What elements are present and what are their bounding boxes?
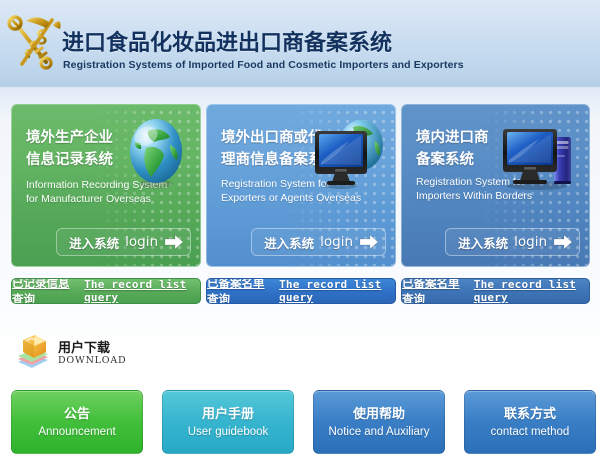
- button-label-cn: 用户手册: [202, 406, 254, 422]
- login-label-en: login: [125, 234, 158, 250]
- query-label-en: The record list query: [474, 278, 589, 304]
- query-label-en: The record list query: [279, 278, 395, 304]
- page-title-cn: 进口食品化妆品进出口商备案系统: [62, 25, 392, 57]
- page-header: 进口食品化妆品进出口商备案系统 Registration Systems of …: [0, 0, 600, 88]
- button-label-en: contact method: [491, 425, 570, 439]
- monitor-globe-icon: [299, 115, 387, 195]
- caduceus-key-emblem-icon: [6, 12, 62, 74]
- login-label-en: login: [514, 234, 547, 250]
- system-cards-row: 境外生产企业 信息记录系统 Information Recording Syst…: [0, 104, 600, 304]
- button-label-cn: 使用帮助: [353, 406, 405, 422]
- card-body: 境外出口商或代 理商信息备案系统 Registration System for…: [206, 104, 396, 267]
- query-label-cn: 已备案名单查询: [207, 278, 272, 304]
- button-label-en: User guidebook: [188, 425, 269, 439]
- query-label-cn: 已记录信息查询: [12, 278, 77, 304]
- record-list-query-button[interactable]: 已备案名单查询 The record list query: [401, 278, 590, 304]
- page-title-en: Registration Systems of Imported Food an…: [63, 59, 464, 71]
- button-label-en: Notice and Auxiliary: [329, 425, 430, 439]
- user-download-section[interactable]: 用户下载 DOWNLOAD: [14, 332, 126, 372]
- download-book-icon: [14, 332, 52, 372]
- contact-method-button[interactable]: 联系方式 contact method: [464, 390, 596, 454]
- login-button[interactable]: 进入系统 login: [251, 228, 386, 256]
- download-label-group: 用户下载 DOWNLOAD: [58, 338, 126, 367]
- login-label-cn: 进入系统: [69, 233, 119, 252]
- button-label-cn: 联系方式: [504, 406, 556, 422]
- arrow-right-icon: [164, 233, 184, 251]
- record-list-query-button[interactable]: 已记录信息查询 The record list query: [11, 278, 201, 304]
- user-guidebook-button[interactable]: 用户手册 User guidebook: [162, 390, 294, 454]
- download-label-cn: 用户下载: [58, 340, 126, 355]
- record-list-query-button[interactable]: 已备案名单查询 The record list query: [206, 278, 396, 304]
- announcement-button[interactable]: 公告 Announcement: [11, 390, 143, 454]
- card-body: 境内进口商 备案系统 Registration System for Impor…: [401, 104, 590, 267]
- page-root: 进口食品化妆品进出口商备案系统 Registration Systems of …: [0, 0, 600, 460]
- bottom-button-row: 公告 Announcement 用户手册 User guidebook 使用帮助…: [0, 390, 600, 456]
- download-label-en: DOWNLOAD: [58, 355, 126, 367]
- card-body: 境外生产企业 信息记录系统 Information Recording Syst…: [11, 104, 201, 267]
- system-card-exporters-agents-overseas[interactable]: 境外出口商或代 理商信息备案系统 Registration System for…: [206, 104, 396, 304]
- login-button[interactable]: 进入系统 login: [445, 228, 580, 256]
- arrow-right-icon: [553, 233, 573, 251]
- query-label-en: The record list query: [84, 278, 200, 304]
- button-label-en: Announcement: [38, 425, 115, 439]
- login-label-en: login: [320, 234, 353, 250]
- button-label-cn: 公告: [64, 406, 90, 422]
- system-card-manufacturer-overseas[interactable]: 境外生产企业 信息记录系统 Information Recording Syst…: [11, 104, 201, 304]
- system-card-importers-within-borders[interactable]: 境内进口商 备案系统 Registration System for Impor…: [401, 104, 590, 304]
- desktop-computer-icon: [493, 115, 581, 195]
- login-label-cn: 进入系统: [458, 233, 508, 252]
- login-button[interactable]: 进入系统 login: [56, 228, 191, 256]
- arrow-right-icon: [359, 233, 379, 251]
- query-label-cn: 已备案名单查询: [402, 278, 467, 304]
- notice-and-auxiliary-button[interactable]: 使用帮助 Notice and Auxiliary: [313, 390, 445, 454]
- globe-icon: [104, 115, 192, 195]
- login-label-cn: 进入系统: [264, 233, 314, 252]
